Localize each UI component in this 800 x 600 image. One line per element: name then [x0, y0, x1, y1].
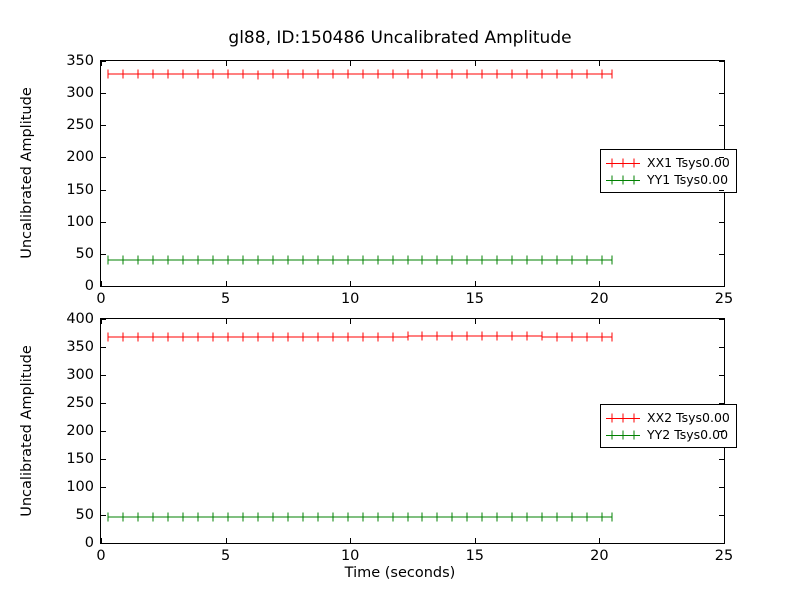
- y-tick-left: [101, 375, 106, 376]
- series-segment: [557, 260, 572, 261]
- plus-marker: [213, 512, 214, 521]
- x-tick-bottom: [475, 281, 476, 286]
- y-tick-right: [719, 515, 724, 516]
- y-tick-left: [101, 431, 106, 432]
- x-tick-top: [101, 61, 102, 66]
- series-segment: [138, 516, 153, 517]
- plus-marker: [257, 512, 258, 521]
- plus-marker: [138, 512, 139, 521]
- series-segment: [183, 260, 198, 261]
- legend-entry: XX1 Tsys0.00: [606, 154, 730, 171]
- y-tick-left: [101, 157, 106, 158]
- plus-marker: [123, 512, 124, 521]
- legend-label: XX2 Tsys0.00: [647, 410, 730, 425]
- plus-marker: [392, 512, 393, 521]
- series-segment: [228, 260, 243, 261]
- plus-marker: [422, 512, 423, 521]
- series-segment: [273, 260, 288, 261]
- plus-marker: [452, 255, 453, 264]
- plus-marker: [512, 512, 513, 521]
- series-segment: [168, 516, 183, 517]
- y-tick-left: [101, 190, 106, 191]
- y-tick-label: 200: [66, 423, 94, 439]
- matplotlib-figure: gl88, ID:150486 Uncalibrated Amplitude U…: [0, 0, 800, 600]
- x-tick-top: [475, 319, 476, 324]
- plus-marker: [168, 256, 169, 265]
- plus-marker: [527, 255, 528, 264]
- plus-marker: [317, 512, 318, 521]
- x-tick-top: [475, 61, 476, 66]
- plus-marker: [422, 255, 423, 264]
- series-segment: [482, 259, 497, 260]
- series-segment: [378, 516, 393, 517]
- plus-marker: [497, 255, 498, 264]
- plus-marker: [407, 255, 408, 264]
- y-tick-label: 150: [66, 182, 94, 198]
- series-segment: [422, 259, 437, 260]
- series-segment: [318, 260, 333, 261]
- y-tick-label: 100: [66, 479, 94, 495]
- y-tick-left: [101, 222, 106, 223]
- plus-marker: [183, 256, 184, 265]
- series-segment: [527, 516, 542, 517]
- series-segment: [408, 259, 423, 260]
- plus-marker: [392, 256, 393, 265]
- plus-marker: [542, 255, 543, 264]
- series-segment: [273, 516, 288, 517]
- series-segment: [497, 516, 512, 517]
- plus-marker: [362, 512, 363, 521]
- plus-marker: [497, 512, 498, 521]
- series-segment: [393, 516, 408, 517]
- plus-marker: [257, 256, 258, 265]
- x-tick-label: 0: [96, 291, 105, 307]
- series-segment: [422, 516, 437, 517]
- plus-marker: [228, 256, 229, 265]
- legend-key-icon: [606, 411, 640, 424]
- series-segment: [452, 259, 467, 260]
- x-tick-bottom: [350, 281, 351, 286]
- y-tick-right: [719, 254, 724, 255]
- series-segment: [602, 260, 612, 261]
- series-segment: [288, 516, 303, 517]
- plus-marker: [287, 512, 288, 521]
- y-tick-label: 150: [66, 451, 94, 467]
- series-segment: [213, 516, 228, 517]
- legend-key-icon: [606, 173, 640, 186]
- series-segment: [572, 260, 587, 261]
- series-segment: [303, 260, 318, 261]
- plus-marker: [467, 512, 468, 521]
- y-tick-right: [719, 347, 724, 348]
- x-tick-label: 25: [715, 548, 733, 564]
- y-tick-right: [719, 286, 724, 287]
- plus-marker: [542, 512, 543, 521]
- plus-marker: [601, 256, 602, 265]
- legend-entry: XX2 Tsys0.00: [606, 409, 730, 426]
- legend-top: XX1 Tsys0.00YY1 Tsys0.00: [600, 149, 737, 193]
- series-segment: [542, 516, 557, 517]
- y-tick-right: [719, 543, 724, 544]
- y-tick-label: 300: [66, 367, 94, 383]
- plus-marker: [571, 512, 572, 521]
- plus-marker: [377, 256, 378, 265]
- y-tick-label: 400: [66, 311, 94, 327]
- y-tick-right: [719, 190, 724, 191]
- plus-marker: [437, 512, 438, 521]
- series-segment: [467, 516, 482, 517]
- plus-marker: [611, 512, 612, 521]
- x-tick-bottom: [101, 281, 102, 286]
- x-tick-top: [350, 61, 351, 66]
- series-segment: [348, 516, 363, 517]
- plus-marker: [272, 256, 273, 265]
- y-tick-label: 200: [66, 149, 94, 165]
- plus-marker: [362, 256, 363, 265]
- y-tick-label: 0: [85, 278, 94, 294]
- series-segment: [587, 260, 602, 261]
- x-tick-label: 15: [466, 291, 484, 307]
- series-segment: [243, 260, 258, 261]
- x-tick-label: 5: [221, 291, 230, 307]
- x-tick-bottom: [226, 538, 227, 543]
- series-segment: [123, 260, 138, 261]
- series-segment: [108, 260, 123, 261]
- plus-marker: [302, 512, 303, 521]
- legend-key-icon: [606, 156, 640, 169]
- series-segment: [512, 259, 527, 260]
- plus-marker: [243, 512, 244, 521]
- plus-marker: [108, 512, 109, 521]
- plus-marker: [123, 256, 124, 265]
- y-tick-label: 100: [66, 214, 94, 230]
- y-axis-label-top: Uncalibrated Amplitude: [19, 87, 35, 259]
- series-segment: [602, 516, 612, 517]
- series-segment: [467, 259, 482, 260]
- y-tick-left: [101, 403, 106, 404]
- plus-marker: [611, 256, 612, 265]
- legend-key-icon: [606, 428, 640, 441]
- y-tick-right: [719, 157, 724, 158]
- x-tick-bottom: [724, 281, 725, 286]
- y-tick-left: [101, 515, 106, 516]
- y-tick-label: 50: [76, 246, 94, 262]
- plus-marker: [332, 512, 333, 521]
- y-tick-left: [101, 347, 106, 348]
- series-segment: [153, 516, 168, 517]
- plus-marker: [527, 512, 528, 521]
- series-segment: [303, 516, 318, 517]
- y-tick-label: 0: [85, 535, 94, 551]
- plus-marker: [347, 256, 348, 265]
- series-segment: [318, 516, 333, 517]
- y-tick-left: [101, 93, 106, 94]
- x-tick-top: [724, 61, 725, 66]
- plus-marker: [272, 512, 273, 521]
- series-segment: [333, 260, 348, 261]
- legend-entry: YY2 Tsys0.00: [606, 426, 730, 443]
- series-segment: [363, 260, 378, 261]
- series-segment: [557, 516, 572, 517]
- x-tick-bottom: [724, 538, 725, 543]
- y-tick-right: [719, 93, 724, 94]
- plus-marker: [213, 256, 214, 265]
- series-segment: [408, 516, 423, 517]
- x-tick-top: [599, 319, 600, 324]
- plus-marker: [557, 256, 558, 265]
- y-tick-label: 250: [66, 117, 94, 133]
- y-tick-left: [101, 543, 106, 544]
- plus-marker: [437, 255, 438, 264]
- series-segment: [288, 260, 303, 261]
- plus-marker: [153, 512, 154, 521]
- plus-marker: [302, 256, 303, 265]
- x-tick-bottom: [101, 538, 102, 543]
- series-segment: [213, 260, 228, 261]
- plot-panel-bottom: XX2 Tsys0.00YY2 Tsys0.00 050100150200250…: [100, 318, 725, 544]
- y-tick-label: 350: [66, 53, 94, 69]
- y-tick-label: 250: [66, 395, 94, 411]
- x-tick-top: [599, 61, 600, 66]
- plus-marker: [198, 256, 199, 265]
- plus-marker: [347, 512, 348, 521]
- y-tick-right: [719, 403, 724, 404]
- x-tick-label: 20: [590, 548, 608, 564]
- plus-marker: [168, 512, 169, 521]
- plus-marker: [183, 512, 184, 521]
- plus-marker: [108, 256, 109, 265]
- plus-marker: [482, 512, 483, 521]
- plus-marker: [228, 512, 229, 521]
- y-tick-left: [101, 286, 106, 287]
- series-segment: [437, 516, 452, 517]
- series-segment: [542, 259, 557, 260]
- series-segment: [243, 516, 258, 517]
- x-tick-top: [724, 319, 725, 324]
- y-tick-right: [719, 222, 724, 223]
- plus-marker: [571, 256, 572, 265]
- x-tick-top: [101, 319, 102, 324]
- plus-marker: [601, 512, 602, 521]
- plus-marker: [243, 256, 244, 265]
- series-segment: [572, 516, 587, 517]
- plus-marker: [557, 512, 558, 521]
- y-tick-right: [719, 459, 724, 460]
- plus-marker: [586, 512, 587, 521]
- series-segment: [198, 516, 213, 517]
- legend-entry: YY1 Tsys0.00: [606, 171, 730, 188]
- series-segment: [437, 259, 452, 260]
- x-tick-label: 25: [715, 291, 733, 307]
- series-segment: [138, 260, 153, 261]
- x-tick-bottom: [475, 538, 476, 543]
- series-segment: [497, 259, 512, 260]
- y-tick-right: [719, 487, 724, 488]
- y-tick-label: 300: [66, 85, 94, 101]
- plus-marker: [377, 512, 378, 521]
- plus-marker: [407, 512, 408, 521]
- plus-marker: [317, 256, 318, 265]
- y-tick-left: [101, 125, 106, 126]
- legend-bottom: XX2 Tsys0.00YY2 Tsys0.00: [600, 404, 737, 448]
- series-segment: [378, 260, 393, 261]
- plus-marker: [153, 256, 154, 265]
- x-axis-label: Time (seconds): [0, 565, 800, 581]
- y-axis-label-bottom: Uncalibrated Amplitude: [19, 345, 35, 517]
- series-segment: [482, 516, 497, 517]
- y-tick-label: 350: [66, 339, 94, 355]
- series-segment: [452, 516, 467, 517]
- plus-marker: [482, 255, 483, 264]
- plus-marker: [332, 256, 333, 265]
- x-tick-label: 5: [221, 548, 230, 564]
- legend-label: YY1 Tsys0.00: [647, 172, 728, 187]
- x-tick-bottom: [599, 538, 600, 543]
- page-title: gl88, ID:150486 Uncalibrated Amplitude: [0, 28, 800, 48]
- plus-marker: [512, 255, 513, 264]
- plus-marker: [287, 256, 288, 265]
- legend-label: YY2 Tsys0.00: [647, 427, 728, 442]
- x-tick-top: [226, 319, 227, 324]
- plus-marker: [138, 256, 139, 265]
- series-segment: [123, 516, 138, 517]
- y-tick-label: 50: [76, 507, 94, 523]
- y-tick-right: [719, 375, 724, 376]
- plus-marker: [467, 255, 468, 264]
- series-segment: [153, 260, 168, 261]
- plus-marker: [586, 256, 587, 265]
- plot-panel-top: XX1 Tsys0.00YY1 Tsys0.00 050100150200250…: [100, 60, 725, 287]
- series-segment: [527, 259, 542, 260]
- y-tick-left: [101, 487, 106, 488]
- x-tick-label: 10: [341, 548, 359, 564]
- series-segment: [168, 260, 183, 261]
- x-tick-bottom: [226, 281, 227, 286]
- x-tick-top: [350, 319, 351, 324]
- series-segment: [183, 516, 198, 517]
- y-tick-right: [719, 125, 724, 126]
- series-segment: [512, 516, 527, 517]
- series-segment: [348, 260, 363, 261]
- series-segment: [363, 516, 378, 517]
- series-segment: [333, 516, 348, 517]
- y-tick-left: [101, 254, 106, 255]
- y-tick-right: [719, 431, 724, 432]
- plus-marker: [198, 512, 199, 521]
- plus-marker: [452, 512, 453, 521]
- series-segment: [198, 260, 213, 261]
- legend-label: XX1 Tsys0.00: [647, 155, 730, 170]
- series-segment: [587, 516, 602, 517]
- x-tick-bottom: [599, 281, 600, 286]
- x-tick-bottom: [350, 538, 351, 543]
- x-tick-label: 10: [341, 291, 359, 307]
- series-segment: [258, 516, 273, 517]
- y-tick-left: [101, 459, 106, 460]
- series-segment: [228, 516, 243, 517]
- x-tick-label: 0: [96, 548, 105, 564]
- x-tick-label: 15: [466, 548, 484, 564]
- series-segment: [108, 516, 123, 517]
- series-segment: [393, 259, 408, 260]
- x-tick-label: 20: [590, 291, 608, 307]
- x-tick-top: [226, 61, 227, 66]
- series-segment: [258, 260, 273, 261]
